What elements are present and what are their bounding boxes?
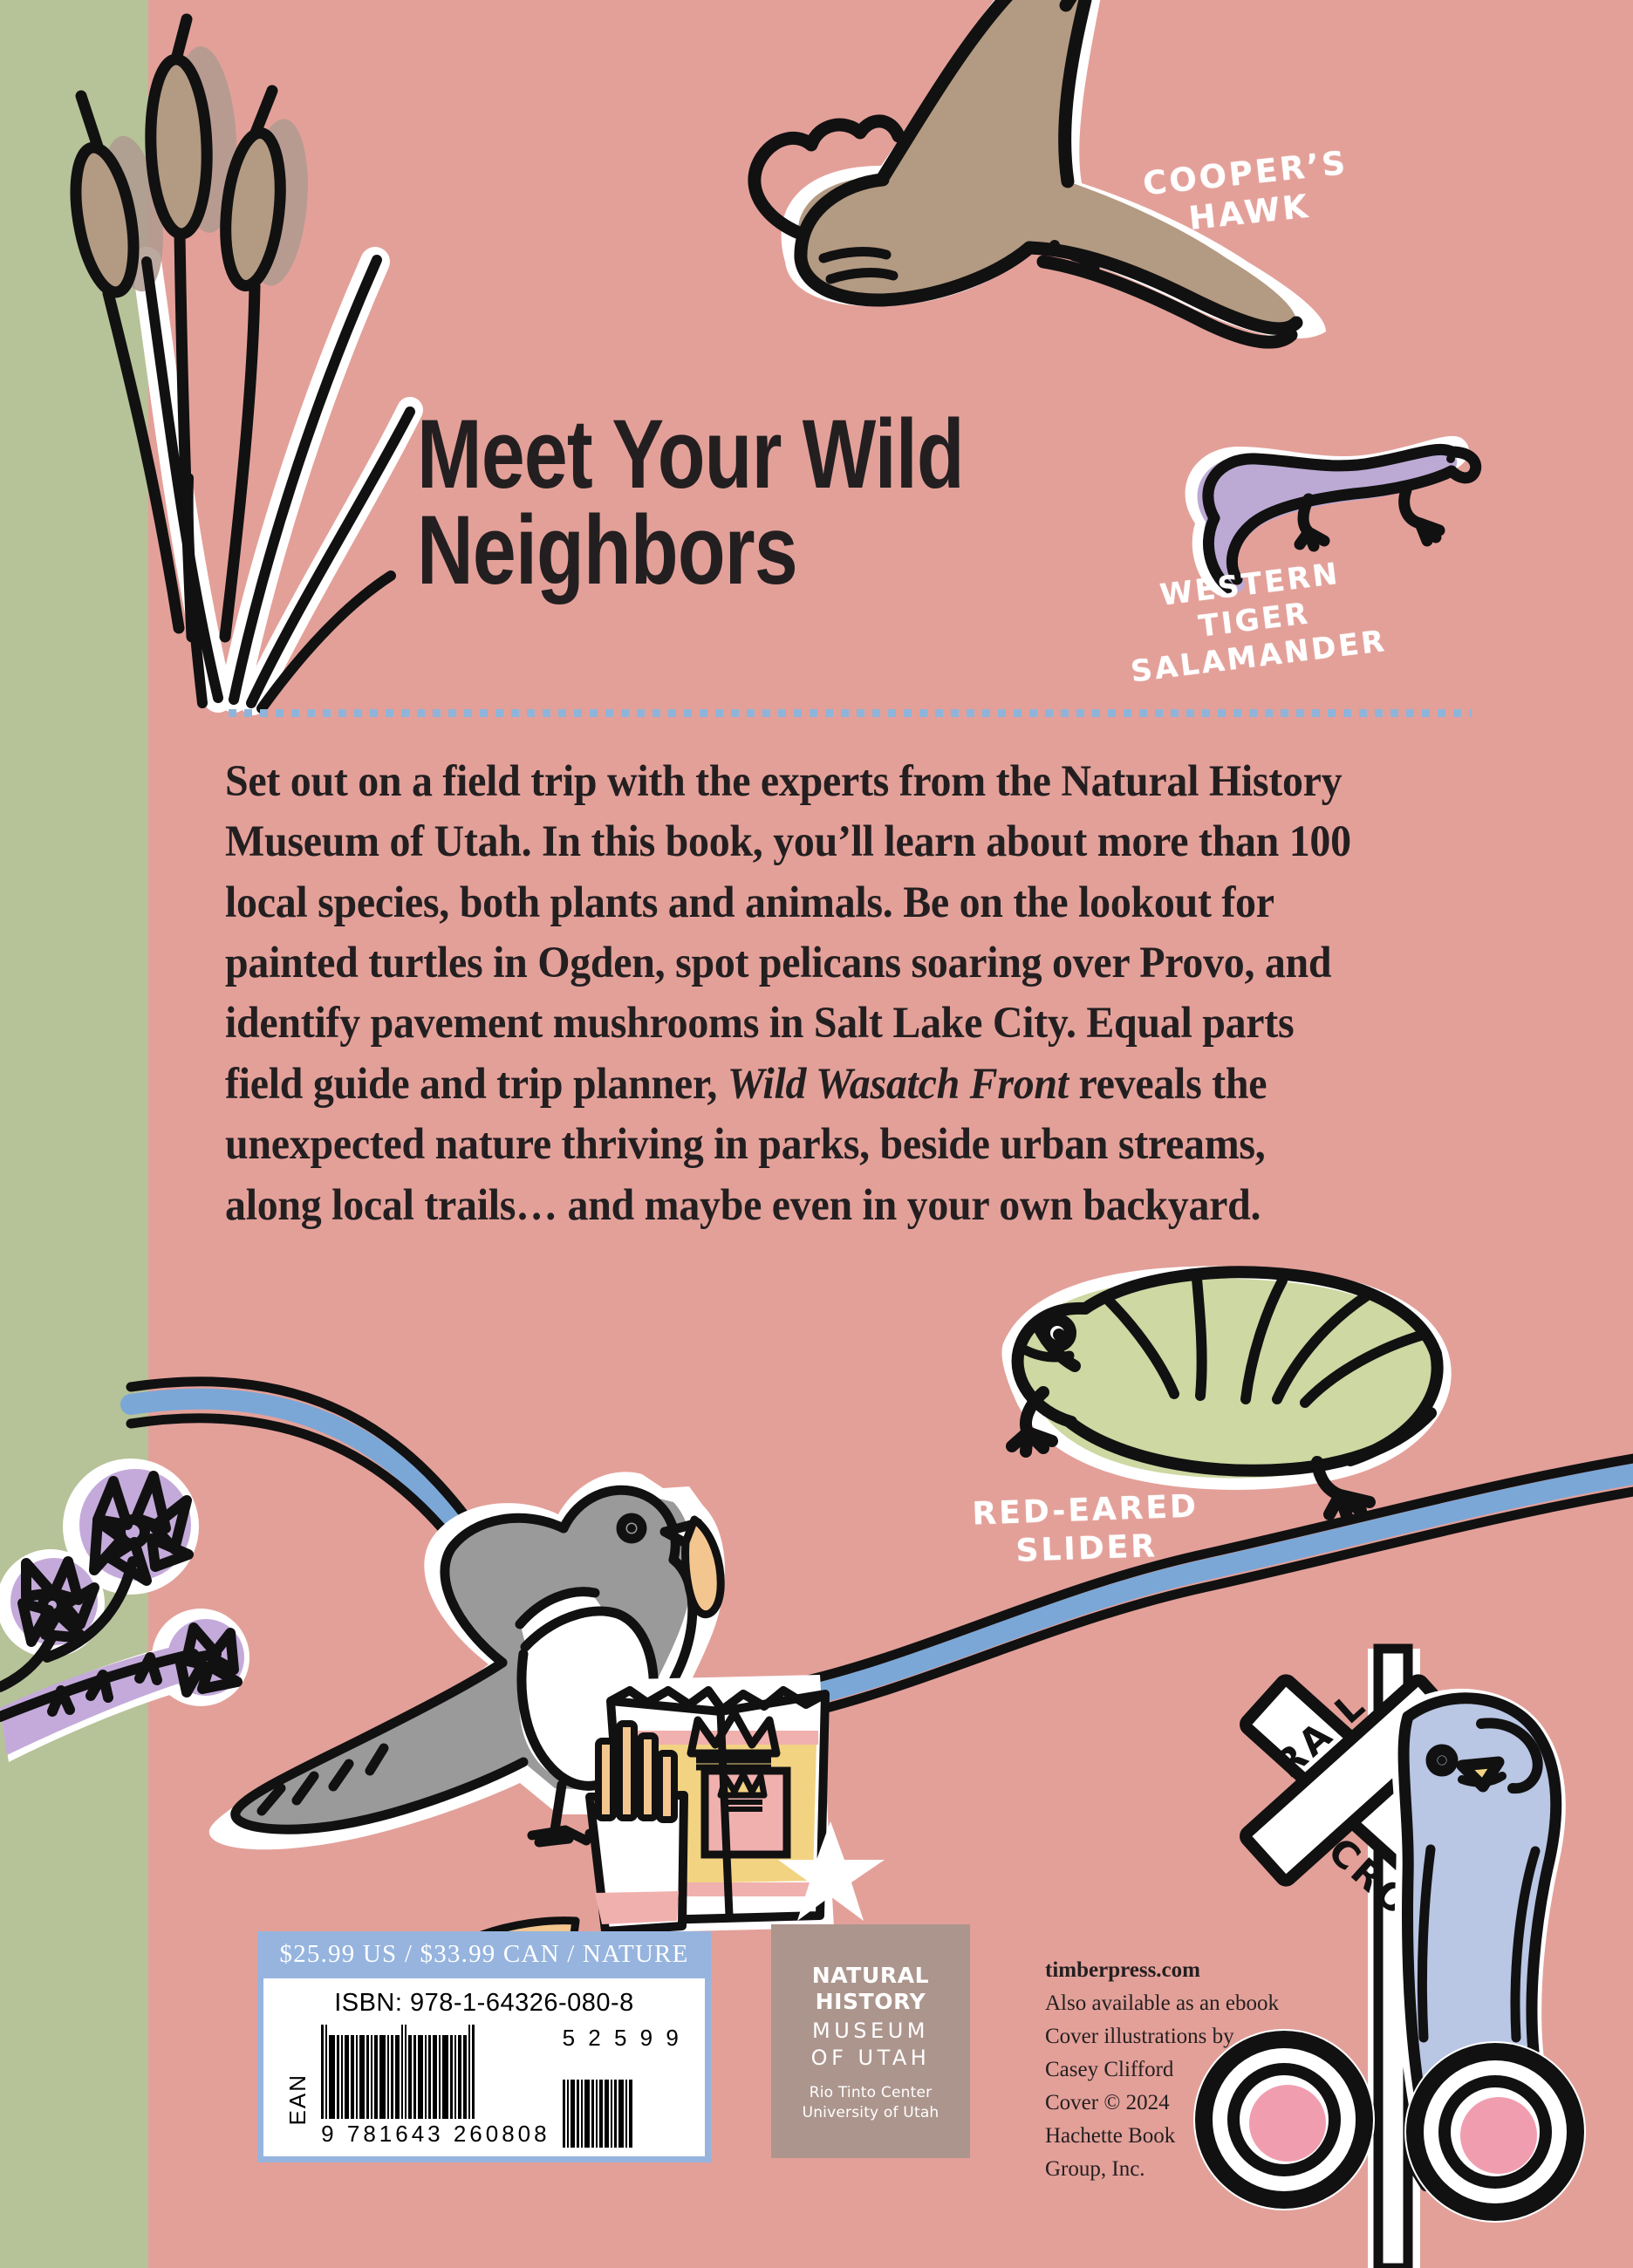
river-illustration [131, 1382, 1633, 1725]
price-bar: $25.99 US / $33.99 CAN / NATURE [257, 1931, 711, 1978]
museum-sub-1: Rio Tinto Center [771, 2083, 970, 2102]
blurb-part-1: Set out on a field trip with the experts… [225, 757, 1351, 1109]
label-red-eared-slider: RED-EARED SLIDER [959, 1487, 1214, 1573]
rail-text: RAIL [1267, 1683, 1375, 1786]
label-western-tiger-salamander: WESTERN TIGER SALAMANDER [1118, 551, 1391, 691]
museum-line-1: NATURAL [771, 1963, 970, 1989]
barcode-box: ISBN: 978-1-64326-080-8 EAN [257, 1978, 711, 2162]
barcode-bars-addon [563, 2053, 682, 2148]
back-cover-blurb: Set out on a field trip with the experts… [225, 752, 1369, 1236]
isbn-text: ISBN: 978-1-64326-080-8 [263, 1989, 705, 2018]
ean-label: EAN [286, 2073, 309, 2125]
price-and-barcode-block: $25.99 US / $33.99 CAN / NATURE ISBN: 97… [257, 1931, 711, 2162]
illustration-note: Cover illustrations by [1045, 2020, 1333, 2053]
barcode-digits-addon: 5 2 5 9 9 [563, 2025, 682, 2052]
red-eared-slider-illustration [1002, 1267, 1452, 1516]
barcode-row: EAN [263, 2025, 705, 2148]
museum-line-3: MUSEUM [771, 2018, 970, 2045]
barcode-bars-main [321, 2025, 550, 2119]
label-coopers-hawk: COOPER’S HAWK [1122, 141, 1373, 245]
black-billed-magpie-illustration [209, 1472, 725, 1849]
ebook-note: Also available as an ebook [1045, 1987, 1333, 2020]
illustrator-name: Casey Clifford [1045, 2053, 1333, 2087]
copyright-year: Cover © 2024 [1045, 2087, 1333, 2120]
barcode-digits-main: 9 781643 260808 [321, 2121, 550, 2148]
publisher-name-2: Group, Inc. [1045, 2153, 1333, 2186]
dotted-divider [229, 709, 1472, 717]
museum-line-4: OF UTAH [771, 2045, 970, 2072]
rock-pigeon-illustration [1391, 1689, 1566, 2188]
crossing-text: CROSSI [1320, 1829, 1476, 1976]
star-doodle [778, 1821, 885, 1921]
publisher-name-1: Hachette Book [1045, 2120, 1333, 2153]
museum-logo: NATURAL HISTORY MUSEUM OF UTAH Rio Tinto… [771, 1924, 970, 2158]
book-back-cover: .ink{fill:none;stroke:#111;stroke-lineca… [0, 0, 1633, 2268]
barcode-main: 9 781643 260808 [321, 2025, 550, 2148]
barcode-addon: 5 2 5 9 9 [563, 2025, 682, 2148]
publisher-website[interactable]: timberpress.com [1045, 1954, 1333, 1987]
museum-sub-2: University of Utah [771, 2103, 970, 2122]
publisher-credits: timberpress.com Also available as an ebo… [1045, 1954, 1333, 2186]
spine-green-strip [0, 0, 148, 2268]
museum-line-2: HISTORY [771, 1989, 970, 2015]
page-title: Meet Your Wild Neighbors [417, 406, 989, 598]
blurb-book-title: Wild Wasatch Front [728, 1060, 1069, 1109]
